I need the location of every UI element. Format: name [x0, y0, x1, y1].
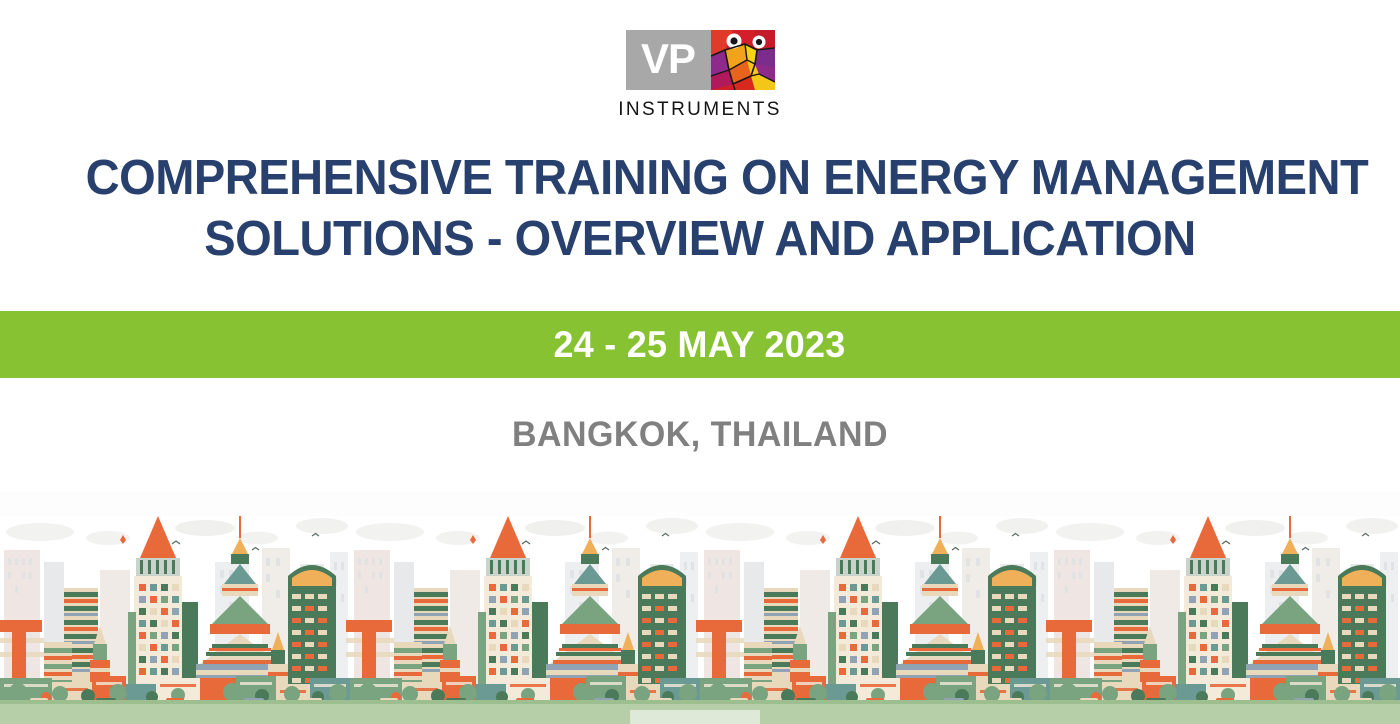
bangkok-skyline-illustration — [0, 492, 1400, 724]
location-text: BANGKOK, THAILAND — [21, 415, 1379, 455]
logo-block: VP — [0, 30, 1400, 121]
date-text: 24 - 25 MAY 2023 — [554, 324, 846, 366]
date-banner: 24 - 25 MAY 2023 — [0, 311, 1400, 378]
logo-mark: VP — [626, 30, 775, 90]
logo-vp-box: VP — [626, 30, 711, 90]
page-title: COMPREHENSIVE TRAINING ON ENERGY MANAGEM… — [86, 148, 1315, 271]
skyline-svg — [0, 492, 1400, 724]
logo-abstract-art-icon — [711, 30, 775, 90]
page-title-line-1: COMPREHENSIVE TRAINING ON ENERGY MANAGEM… — [86, 148, 1315, 209]
page-title-line-2: SOLUTIONS - OVERVIEW AND APPLICATION — [86, 209, 1315, 270]
logo-wordmark: INSTRUMENTS — [618, 99, 782, 121]
logo-vp-text: VP — [641, 38, 695, 80]
